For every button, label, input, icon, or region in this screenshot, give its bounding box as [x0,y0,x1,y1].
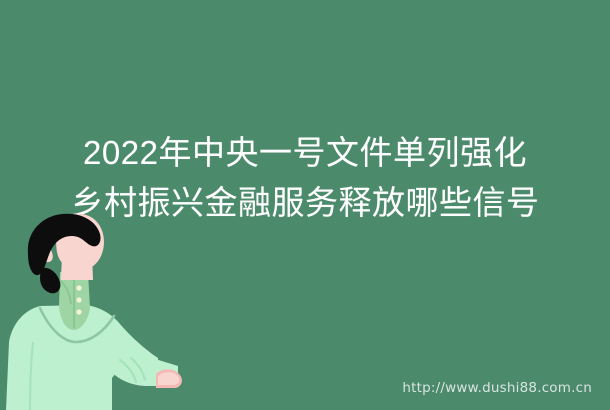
hand-shape [156,369,182,388]
article-cover-image: 2022年中央一号文件单列强化 乡村振兴金融服务释放哪些信号 [0,0,610,410]
collar-buttons [76,285,81,314]
watermark-url: http://www.dushi88.com.cn [402,380,592,396]
sweater-shape [6,305,178,410]
collar-shape [59,272,90,330]
page-title-line-1: 2022年中央一号文件单列强化 [0,128,610,178]
person-pointing-illustration [0,210,200,410]
